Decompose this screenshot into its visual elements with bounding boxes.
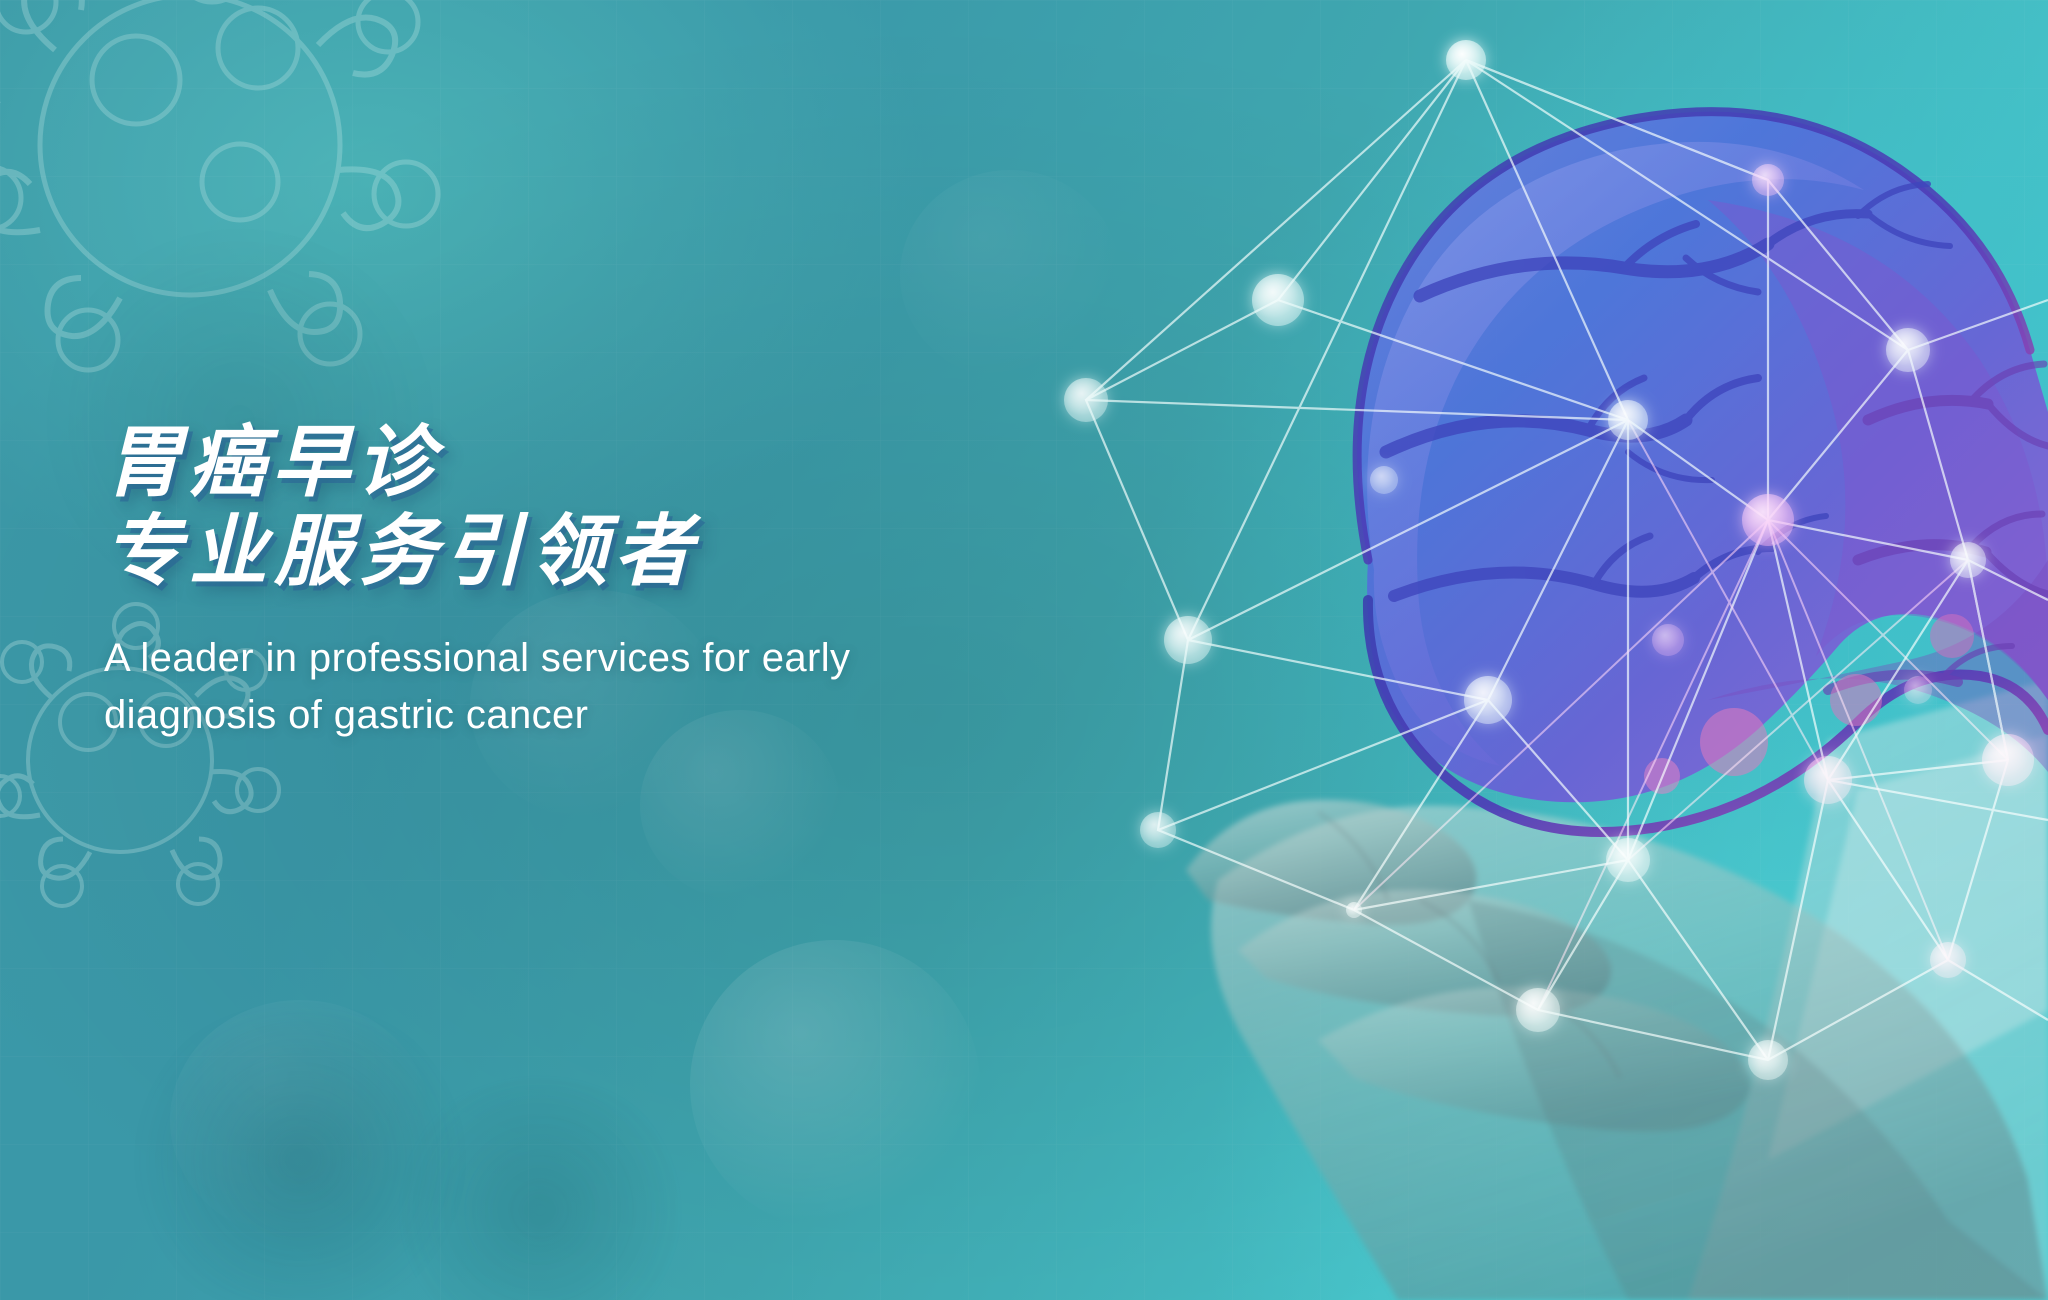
subtitle-line-2: diagnosis of gastric cancer xyxy=(104,687,1104,744)
headline-block: 胃癌早诊 专业服务引领者 A leader in professional se… xyxy=(104,418,1124,743)
headline-line-1: 胃癌早诊 xyxy=(104,418,1124,507)
subtitle-line-1: A leader in professional services for ea… xyxy=(104,630,1104,687)
page-title: 胃癌早诊 专业服务引领者 xyxy=(104,418,1124,596)
headline-line-2: 专业服务引领者 xyxy=(104,507,1124,596)
subtitle-block: A leader in professional services for ea… xyxy=(104,630,1104,744)
banner-stage: 胃癌早诊 专业服务引领者 A leader in professional se… xyxy=(0,0,2048,1300)
hero-illustration xyxy=(1068,0,2048,1300)
